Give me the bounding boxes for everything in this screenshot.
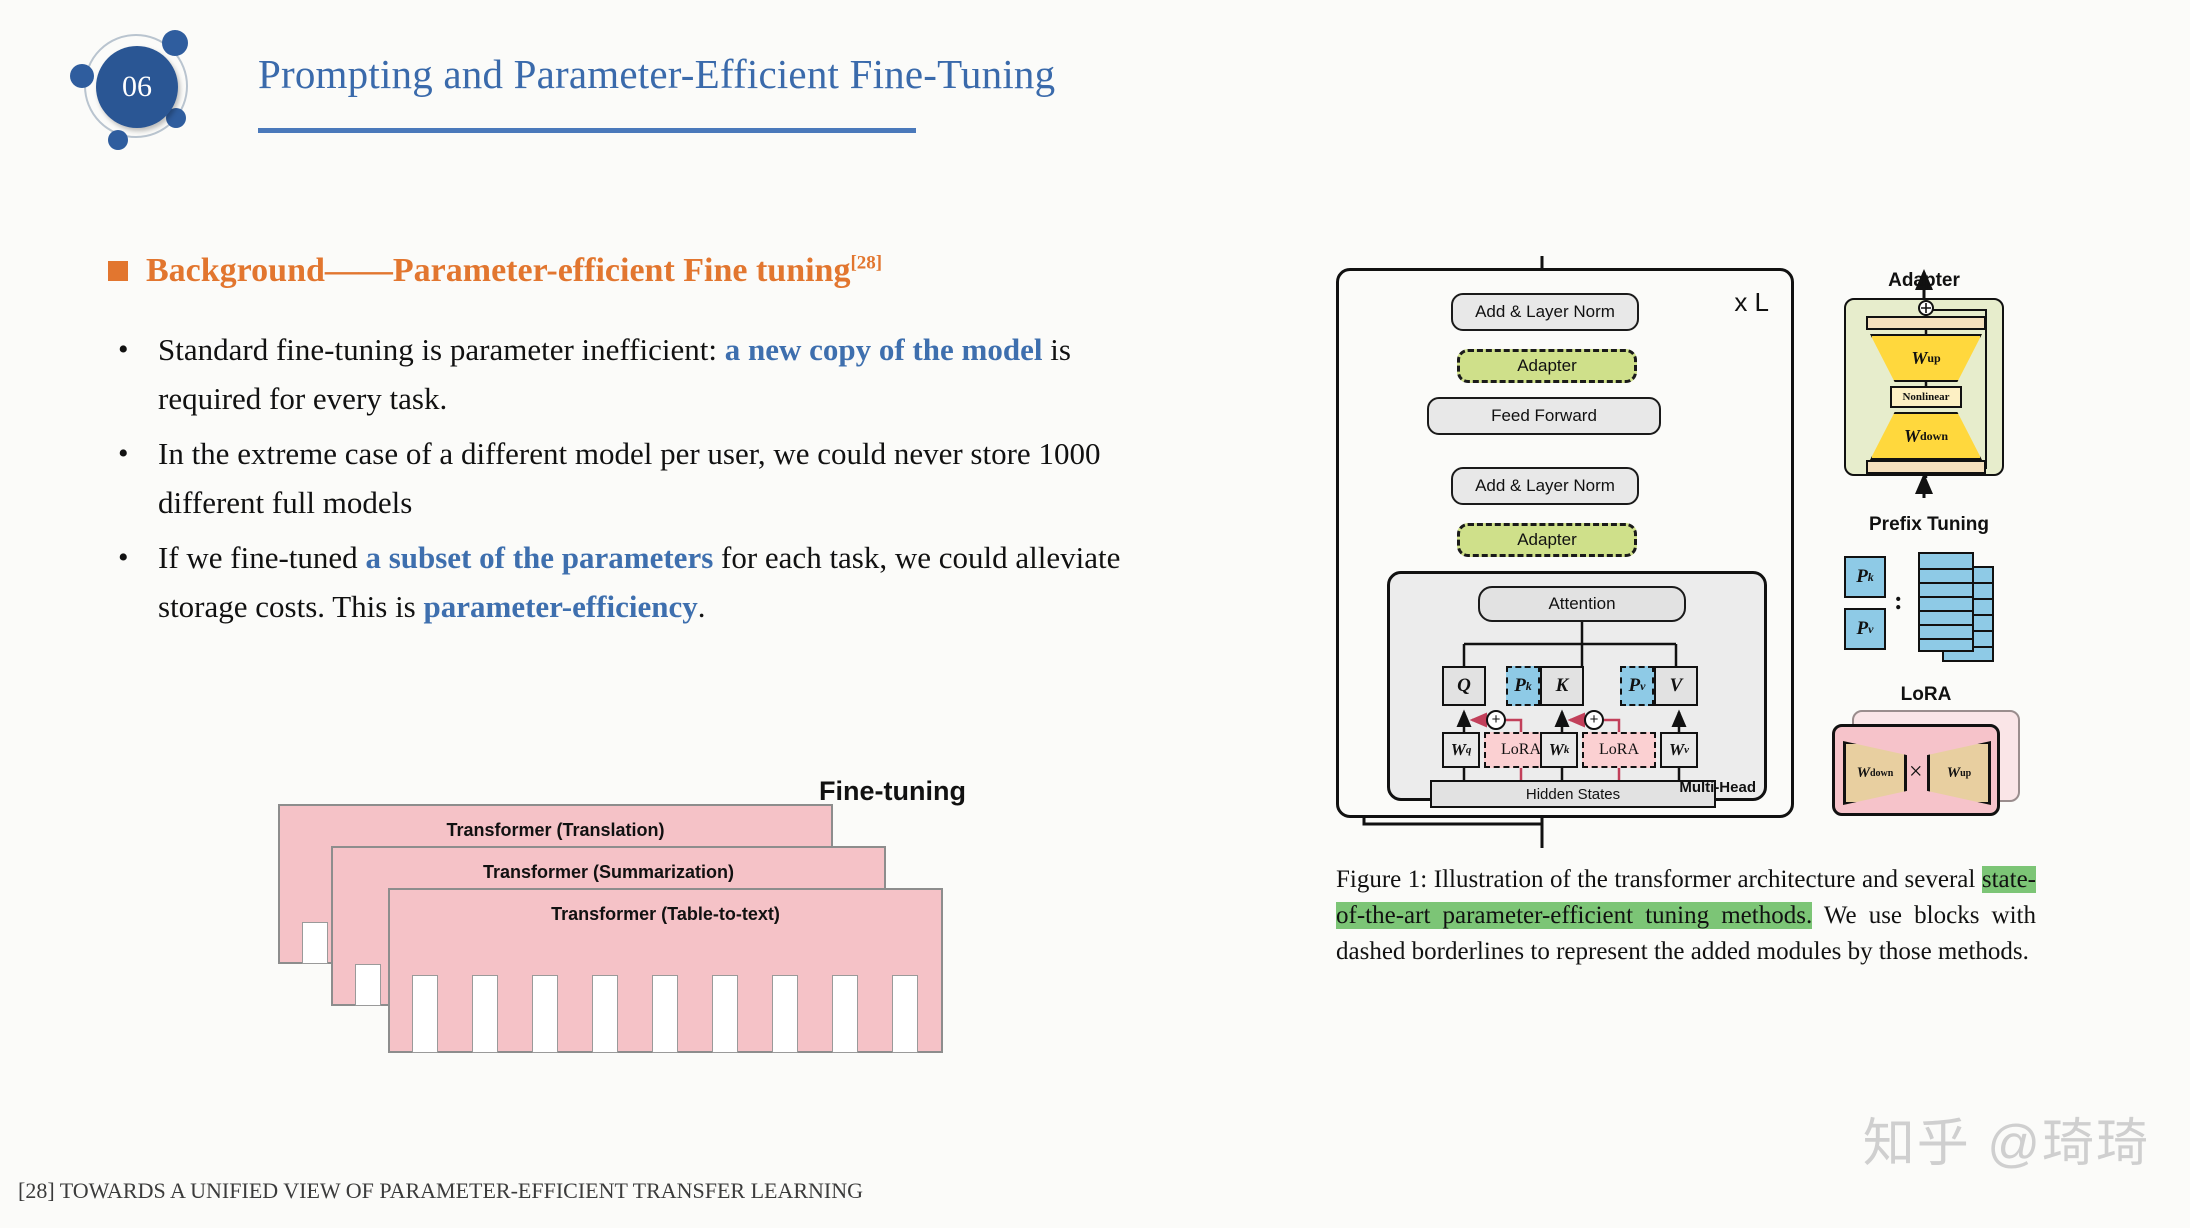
transformer-card-label: Transformer (Summarization) <box>333 862 884 883</box>
lora-panel-title: LoRA <box>1826 684 2026 706</box>
lora-block-key: LoRA <box>1582 732 1656 768</box>
figure-caption: Figure 1: Illustration of the transforme… <box>1336 862 2036 970</box>
footnote-reference: [28] TOWARDS A UNIFIED VIEW OF PARAMETER… <box>18 1178 863 1204</box>
card-bar <box>892 975 918 1053</box>
prefix-stack-front <box>1918 552 1974 652</box>
transformer-architecture-figure: x L Add & Layer Norm Adapter Feed Forwar… <box>1336 268 2066 848</box>
slide-number-badge: 06 <box>62 26 212 146</box>
prefix-tuning-panel-title: Prefix Tuning <box>1834 514 2024 536</box>
lora-detail-panel: Wdown × Wup <box>1826 710 2026 820</box>
w-up-trapezoid: Wup <box>1870 334 1982 382</box>
section-heading: Background——Parameter-efficient Fine tun… <box>108 252 882 290</box>
badge-dot-decoration <box>162 30 188 56</box>
bullet-highlight-span: a subset of the parameters <box>365 540 713 575</box>
layer-repeat-label: x L <box>1734 287 1769 318</box>
add-layer-norm-bottom: Add & Layer Norm <box>1451 467 1639 505</box>
finetuning-diagram: Fine-tuning Transformer (Translation) Tr… <box>278 776 968 1076</box>
finetuning-diagram-title: Fine-tuning <box>819 776 966 807</box>
multi-head-attention-box: Attention Q Pk K Pv V + <box>1387 571 1767 801</box>
adapter-output-bar <box>1866 316 1986 330</box>
section-heading-main: Background——Parameter-efficient Fine tun… <box>146 252 850 289</box>
transformer-card-label: Transformer (Table-to-text) <box>390 904 941 925</box>
wk-weight-block: Wk <box>1540 732 1578 768</box>
prefix-key-block: Pk <box>1506 666 1540 706</box>
prefix-separator: : <box>1894 586 1903 616</box>
transformer-card-bars <box>390 954 941 1051</box>
bullet-marker: • <box>118 325 158 423</box>
square-bullet-icon <box>108 261 128 281</box>
card-bar <box>772 975 798 1053</box>
prefix-key-square: Pk <box>1844 556 1886 598</box>
bullet-text-span: . <box>698 589 706 624</box>
bullet-text-span: Standard fine-tuning is parameter ineffi… <box>158 332 725 367</box>
lora-w-up-trapezoid: Wup <box>1927 741 1991 805</box>
bullet-list: • Standard fine-tuning is parameter inef… <box>118 325 1178 637</box>
card-bar <box>472 975 498 1053</box>
badge-dot-decoration <box>70 64 94 88</box>
card-bar <box>652 975 678 1053</box>
list-item: • If we fine-tuned a subset of the param… <box>118 533 1178 631</box>
hidden-states-block: Hidden States <box>1430 780 1716 808</box>
multi-head-label: Multi-Head <box>1679 779 1756 796</box>
slide-canvas: 06 Prompting and Parameter-Efficient Fin… <box>0 0 2190 1228</box>
adapter-block-top: Adapter <box>1457 349 1637 383</box>
card-bar <box>532 975 558 1053</box>
key-block: K <box>1540 666 1584 706</box>
plus-operator-icon: + <box>1584 710 1604 730</box>
title-underline <box>258 128 916 133</box>
card-bar <box>592 975 618 1053</box>
value-block: V <box>1654 666 1698 706</box>
list-item: • In the extreme case of a different mod… <box>118 429 1178 527</box>
page-title: Prompting and Parameter-Efficient Fine-T… <box>258 50 1055 98</box>
section-heading-reference: [28] <box>850 253 882 274</box>
wq-weight-block: Wq <box>1442 732 1480 768</box>
prefix-value-block: Pv <box>1620 666 1654 706</box>
plus-operator-icon: + <box>1486 710 1506 730</box>
adapter-input-bar <box>1866 460 1986 474</box>
prefix-value-square: Pv <box>1844 608 1886 650</box>
bullet-marker: • <box>118 533 158 631</box>
add-layer-norm-top: Add & Layer Norm <box>1451 293 1639 331</box>
bullet-text-span: In the extreme case of a different model… <box>158 436 1100 520</box>
card-bar <box>712 975 738 1053</box>
list-item: • Standard fine-tuning is parameter inef… <box>118 325 1178 423</box>
query-block: Q <box>1442 666 1486 706</box>
transformer-card-table-to-text: Transformer (Table-to-text) <box>388 888 943 1053</box>
section-heading-text: Background——Parameter-efficient Fine tun… <box>146 252 882 290</box>
bullet-text: If we fine-tuned a subset of the paramet… <box>158 533 1178 631</box>
multiply-operator-icon: × <box>1909 759 1923 786</box>
card-bar <box>355 964 381 1006</box>
transformer-card-label: Transformer (Translation) <box>280 820 831 841</box>
nonlinear-block: Nonlinear <box>1890 386 1962 408</box>
adapter-block-bottom: Adapter <box>1457 523 1637 557</box>
card-bar <box>302 922 328 964</box>
wv-weight-block: Wv <box>1660 732 1698 768</box>
adapter-detail-panel: Wup Nonlinear Wdown <box>1844 298 2004 476</box>
lora-w-down-trapezoid: Wdown <box>1843 741 1907 805</box>
zhihu-watermark: 知乎 @琦琦 <box>1863 1101 2150 1176</box>
badge-number: 06 <box>96 46 178 128</box>
bullet-highlight-span: parameter-efficiency <box>424 589 698 624</box>
prefix-tuning-panel: Pk Pv : <box>1834 540 2024 680</box>
adapter-panel-title: Adapter <box>1844 270 2004 292</box>
transformer-layer-box: x L Add & Layer Norm Adapter Feed Forwar… <box>1336 268 1794 818</box>
card-bar <box>412 975 438 1053</box>
lora-panel-front: Wdown × Wup <box>1832 724 2000 816</box>
bullet-text: Standard fine-tuning is parameter ineffi… <box>158 325 1178 423</box>
bullet-text-span: If we fine-tuned <box>158 540 365 575</box>
w-down-trapezoid: Wdown <box>1870 412 1982 460</box>
attention-block: Attention <box>1478 586 1686 622</box>
bullet-text: In the extreme case of a different model… <box>158 429 1178 527</box>
feed-forward-block: Feed Forward <box>1427 397 1661 435</box>
caption-part-one: Figure 1: Illustration of the transforme… <box>1336 866 1982 893</box>
badge-dot-decoration <box>108 130 128 150</box>
bullet-highlight-span: a new copy of the model <box>725 332 1043 367</box>
bullet-marker: • <box>118 429 158 527</box>
card-bar <box>832 975 858 1053</box>
